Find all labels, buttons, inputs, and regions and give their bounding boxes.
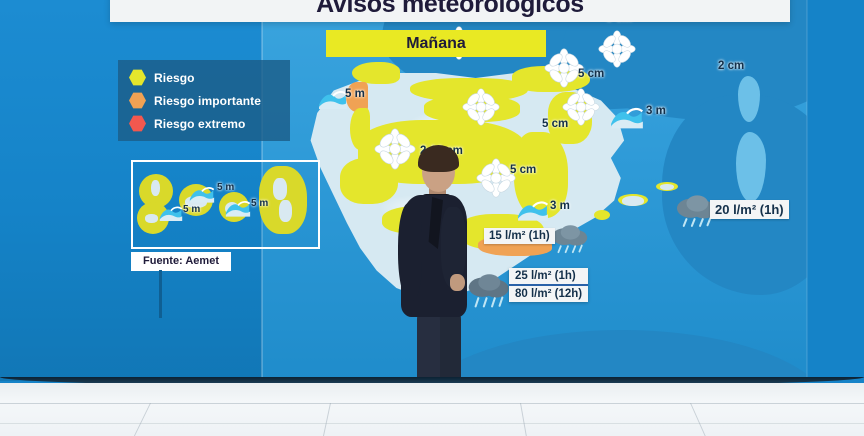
hexagon-icon <box>129 115 146 132</box>
island-la-palma <box>151 180 160 196</box>
wave-icon <box>225 198 251 223</box>
warning-zone-yellow-galicia <box>352 62 400 84</box>
source-label: Fuente: Aemet <box>131 252 231 271</box>
legend-item-riesgo: Riesgo <box>118 66 290 89</box>
presenter-hair <box>418 145 459 172</box>
hexagon-icon <box>129 92 146 109</box>
floor-seam <box>323 403 331 436</box>
legend-label: Riesgo extremo <box>154 117 245 131</box>
wave-icon <box>318 88 348 115</box>
wave-label-0: 5 m <box>345 88 365 100</box>
rain-label-0: 15 l/m² (1h) <box>484 228 555 244</box>
wave-icon <box>159 204 183 227</box>
wave-icon <box>517 198 549 227</box>
canary-wave-label-2: 5 m <box>251 198 268 209</box>
legend-label: Riesgo <box>154 71 195 85</box>
day-badge[interactable]: Mañana <box>326 30 546 57</box>
legend-label: Riesgo importante <box>154 94 261 108</box>
floor-seam <box>520 403 527 436</box>
page-title: Avisos meteorológicos <box>110 0 790 21</box>
snowflake-icon <box>598 30 636 73</box>
island-mallorca <box>622 196 644 206</box>
rain-cloud-icon <box>550 222 592 261</box>
legend-item-riesgo-extremo: Riesgo extremo <box>118 112 290 135</box>
floor-seam <box>0 403 864 404</box>
studio-floor <box>0 383 864 436</box>
rain-stack-line2: 80 l/m² (12h) <box>515 288 582 300</box>
inset-pointer-stem <box>159 270 162 318</box>
wave-icon <box>189 184 215 209</box>
snow-label-4: 5 cm <box>578 68 604 80</box>
wave-label-1: 3 m <box>646 105 666 117</box>
snow-label-6: 5 cm <box>542 118 568 130</box>
snow-label-3: 2 cm <box>718 60 744 72</box>
wave-icon <box>610 104 644 135</box>
island-menorca <box>660 184 674 190</box>
rain-label-1: 20 l/m² (1h) <box>710 200 789 219</box>
canary-islands-inset: 5 m 5 m 5 m <box>131 160 320 249</box>
island-fuerteventura <box>273 178 287 200</box>
island-lanzarote <box>279 200 292 222</box>
hexagon-icon <box>129 69 146 86</box>
presenter-arm-left <box>398 203 422 301</box>
rain-stack-divider <box>509 284 588 286</box>
risk-legend: Riesgo Riesgo importante Riesgo extremo <box>118 60 290 141</box>
rain-stack-label: 25 l/m² (1h) 80 l/m² (12h) <box>509 268 588 302</box>
wave-label-2: 3 m <box>550 200 570 212</box>
island-el-hierro <box>145 214 158 223</box>
presenter-hand <box>450 274 465 291</box>
weather-map: 5 cm 2 cm <box>262 0 807 381</box>
rain-stack-line1: 25 l/m² (1h) <box>515 270 582 282</box>
floor-seam <box>0 423 864 424</box>
snowflake-icon <box>462 88 500 131</box>
floor-seam <box>690 403 706 436</box>
warning-zone-yellow-ibiza <box>594 210 610 220</box>
canary-wave-label-1: 5 m <box>217 182 234 193</box>
wall-seam-right <box>806 0 808 381</box>
weather-broadcast-screenshot: 5 cm 2 cm <box>0 0 864 436</box>
floor-seam <box>134 403 151 436</box>
snow-label-7: 5 cm <box>510 164 536 176</box>
legend-item-riesgo-importante: Riesgo importante <box>118 89 290 112</box>
